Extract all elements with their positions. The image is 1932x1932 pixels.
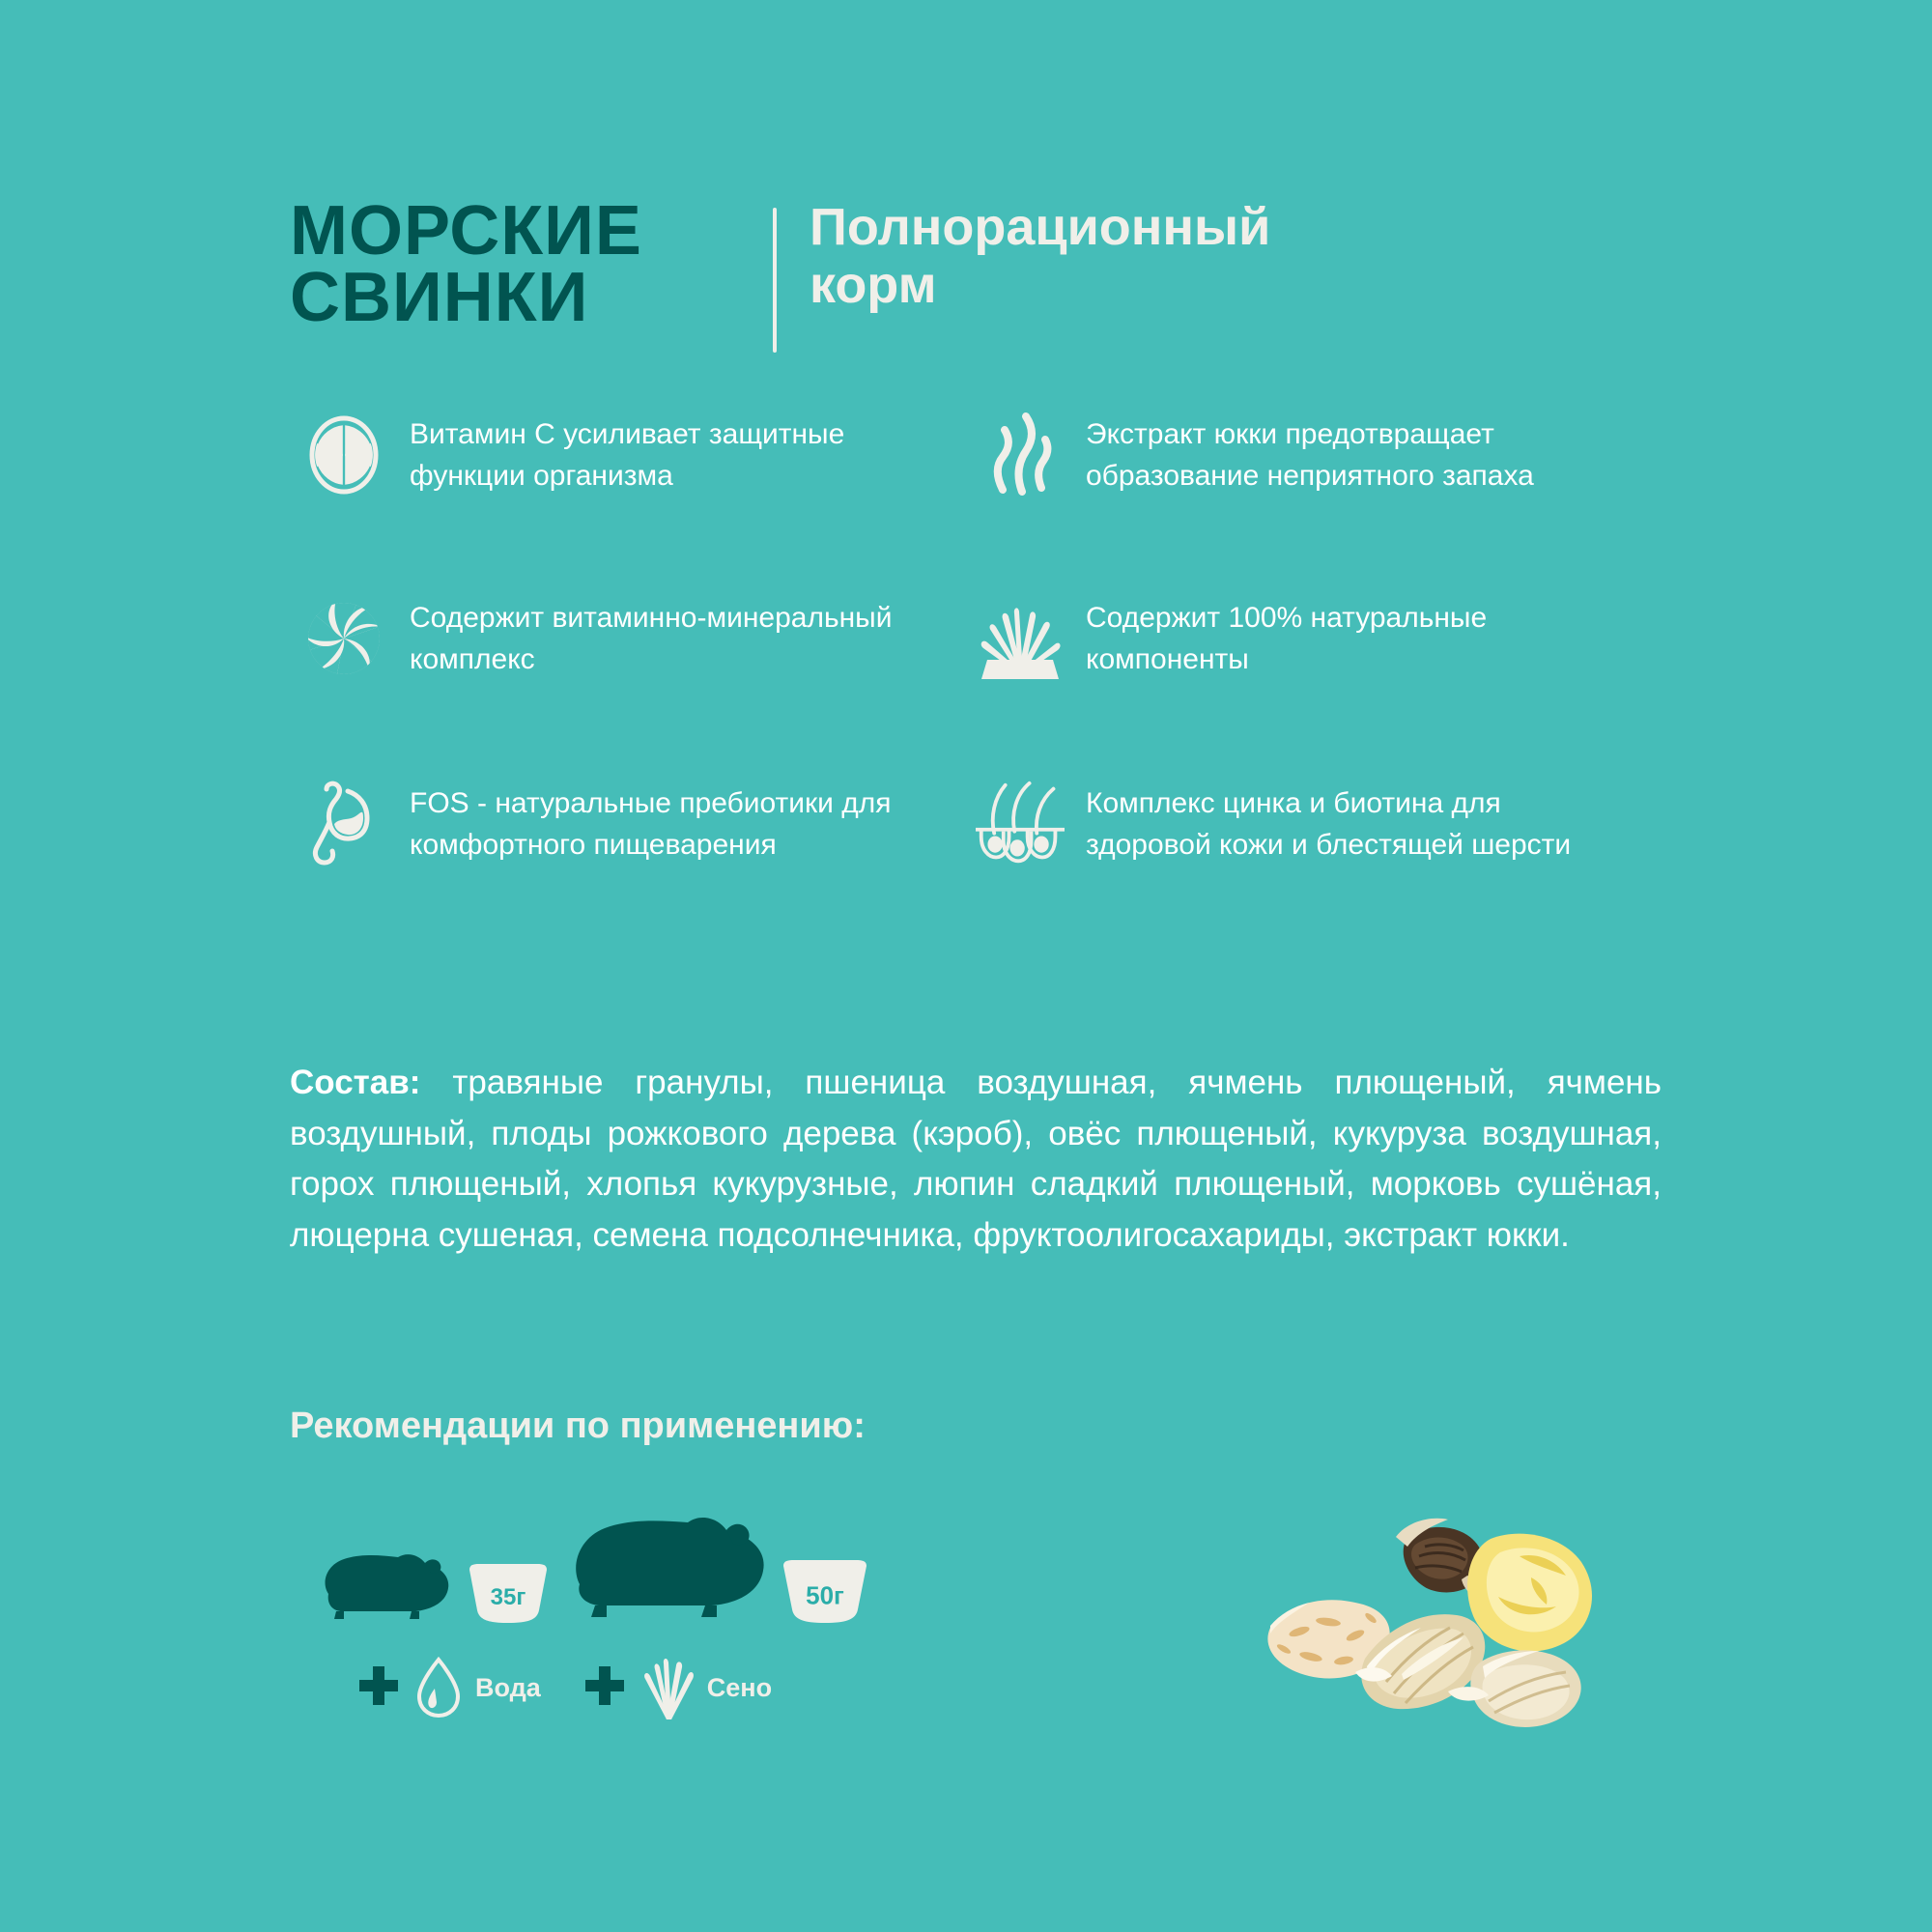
feature-text: Содержит 100% натуральные компоненты xyxy=(1086,594,1613,680)
feeding-guide: 35г 50г xyxy=(319,1507,1014,1758)
composition-label: Состав: xyxy=(290,1064,420,1101)
large-guinea-pig-icon xyxy=(570,1507,778,1631)
feature-list: Витамин С усиливает защитные функции орг… xyxy=(299,411,1652,895)
feature-item: Витамин С усиливает защитные функции орг… xyxy=(299,411,937,526)
feature-item: Содержит витаминно-минеральный комплекс xyxy=(299,594,937,710)
feature-text: Содержит витаминно-минеральный комплекс xyxy=(410,594,937,680)
feeding-addons: Вода xyxy=(357,1654,814,1721)
addon-label: Сено xyxy=(707,1673,772,1703)
small-guinea-pig-icon xyxy=(319,1534,464,1631)
page-title: МОРСКИЕ СВИНКИ xyxy=(290,198,773,331)
feature-item: FOS - натуральные пребиотики для комфорт… xyxy=(299,780,937,895)
header: МОРСКИЕ СВИНКИ Полнорационный корм xyxy=(290,198,1270,353)
food-product-photo xyxy=(1241,1502,1618,1782)
portion-bowl: 35г xyxy=(464,1562,553,1631)
stomach-icon xyxy=(299,780,388,868)
feeding-portion-small: 35г xyxy=(319,1534,553,1631)
subtitle-line-2: корм xyxy=(810,256,1270,314)
feature-item: Экстракт юкки предотвращает образование … xyxy=(976,411,1613,526)
product-label-page: МОРСКИЕ СВИНКИ Полнорационный корм xyxy=(0,0,1932,1932)
recommendations-title: Рекомендации по применению: xyxy=(290,1406,866,1447)
portion-bowl: 50г xyxy=(778,1558,872,1631)
header-subtitle: Полнорационный корм xyxy=(810,198,1270,315)
odor-waves-icon xyxy=(976,411,1065,499)
water-drop-icon xyxy=(413,1656,464,1719)
hair-follicle-icon xyxy=(976,780,1065,868)
grass-tuft-icon xyxy=(976,594,1065,683)
addon-item: Вода xyxy=(357,1656,541,1719)
citrus-slice-icon xyxy=(299,411,388,499)
addon-item: Сено xyxy=(583,1654,772,1721)
feature-column-left: Витамин С усиливает защитные функции орг… xyxy=(299,411,937,895)
feature-column-right: Экстракт юкки предотвращает образование … xyxy=(976,411,1613,895)
header-divider xyxy=(773,208,777,353)
feature-item: Содержит 100% натуральные компоненты xyxy=(976,594,1613,710)
hay-grass-icon xyxy=(639,1654,696,1721)
feeding-portion-large: 50г xyxy=(570,1507,872,1631)
aperture-icon xyxy=(299,594,388,683)
portion-amount: 35г xyxy=(464,1584,553,1611)
composition-paragraph: Состав: травяные гранулы, пшеница воздуш… xyxy=(290,1058,1662,1261)
portion-amount: 50г xyxy=(778,1580,872,1610)
feature-item: Комплекс цинка и биотина для здоровой ко… xyxy=(976,780,1613,895)
feeding-portion-row: 35г 50г xyxy=(319,1507,1014,1642)
plus-icon xyxy=(583,1664,626,1712)
feature-text: Витамин С усиливает защитные функции орг… xyxy=(410,411,937,497)
brand-line-2: СВИНКИ xyxy=(290,265,773,331)
plus-icon xyxy=(357,1664,400,1712)
feature-text: FOS - натуральные пребиотики для комфорт… xyxy=(410,780,937,866)
composition-text: травяные гранулы, пшеница воздушная, ячм… xyxy=(290,1064,1662,1254)
brand-line-1: МОРСКИЕ xyxy=(290,198,773,265)
addon-label: Вода xyxy=(475,1673,541,1703)
subtitle-line-1: Полнорационный xyxy=(810,198,1270,256)
feature-text: Комплекс цинка и биотина для здоровой ко… xyxy=(1086,780,1613,866)
feature-text: Экстракт юкки предотвращает образование … xyxy=(1086,411,1613,497)
